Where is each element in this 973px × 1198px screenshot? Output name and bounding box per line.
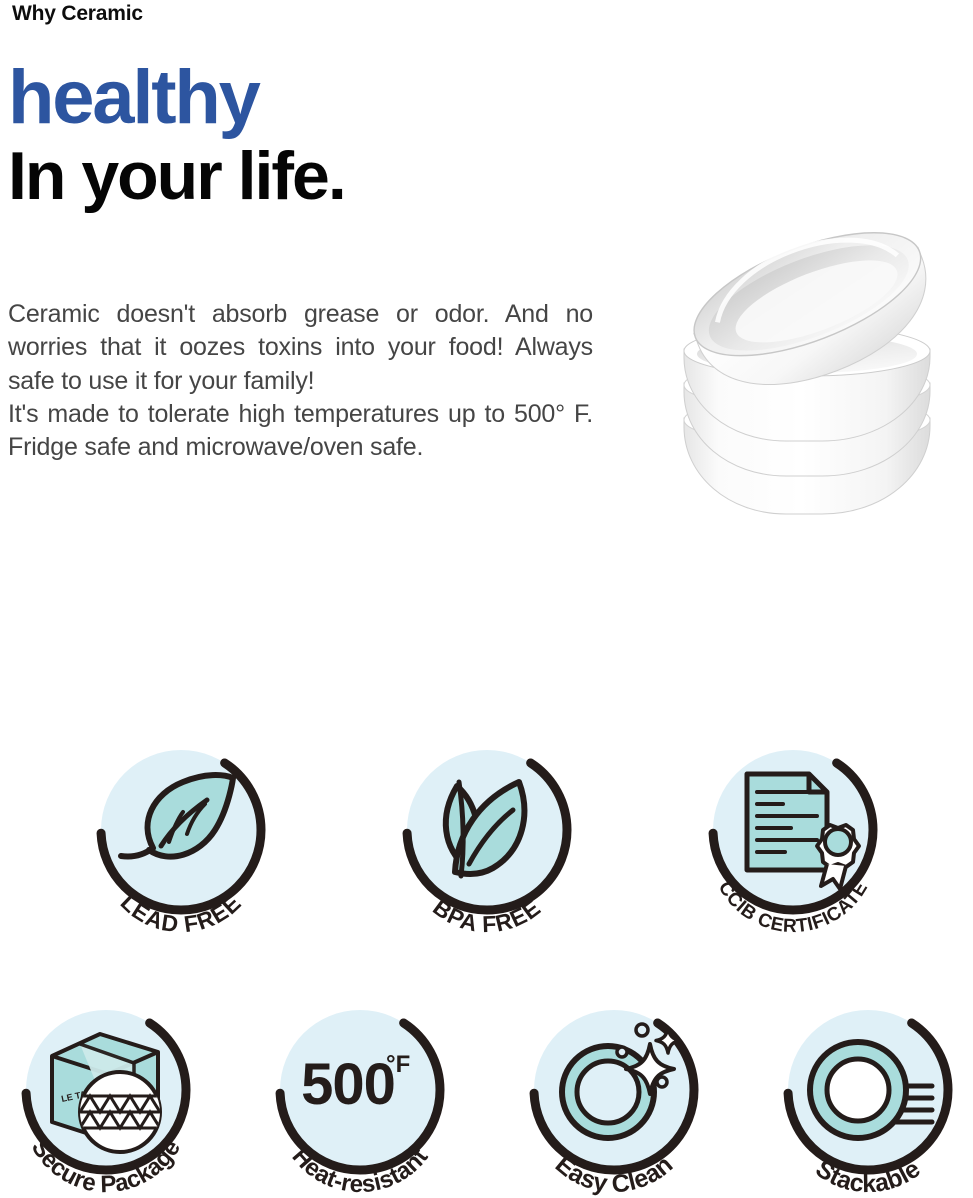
- badge-row-primary: LEAD FREE BPA FREE: [0, 738, 973, 934]
- bubble-icon: [617, 1047, 627, 1057]
- badge-bpa-free[interactable]: BPA FREE: [389, 738, 585, 934]
- corrugation-zoom-icon: [80, 1072, 160, 1152]
- bubble-icon: [636, 1024, 648, 1036]
- bubble-icon: [657, 1077, 667, 1087]
- body-paragraph-2: It's made to tolerate high temperatures …: [8, 398, 593, 465]
- headline-primary: healthy: [8, 62, 628, 134]
- badge-secure-package[interactable]: LE TAU Secure Package: [8, 1000, 204, 1196]
- temperature-unit: °F: [386, 1051, 410, 1078]
- temperature-icon: 500 °F: [301, 1051, 410, 1117]
- body-paragraph-1: Ceramic doesn't absorb grease or odor. A…: [8, 298, 593, 398]
- temperature-value: 500: [301, 1052, 395, 1117]
- badge-lead-free[interactable]: LEAD FREE: [83, 738, 279, 934]
- product-photo-bowl-stack: [662, 232, 973, 532]
- badge-stackable[interactable]: Stackable: [770, 1000, 966, 1196]
- badge-row-secondary: LE TAU Secure Package: [0, 1000, 973, 1196]
- headline-secondary: In your life.: [8, 142, 628, 211]
- why-ceramic-panel: Why Ceramic healthy In your life. Cerami…: [0, 0, 973, 1198]
- badge-ccib-certificate[interactable]: CCIB CERTIFICATE: [695, 738, 891, 934]
- badge-easy-clean[interactable]: Easy Clean: [516, 1000, 712, 1196]
- section-eyebrow: Why Ceramic: [12, 2, 143, 26]
- headline-block: healthy In your life.: [8, 62, 628, 212]
- body-copy: Ceramic doesn't absorb grease or odor. A…: [8, 298, 593, 464]
- badge-heat-resistant[interactable]: 500 °F Heat-resistant: [262, 1000, 458, 1196]
